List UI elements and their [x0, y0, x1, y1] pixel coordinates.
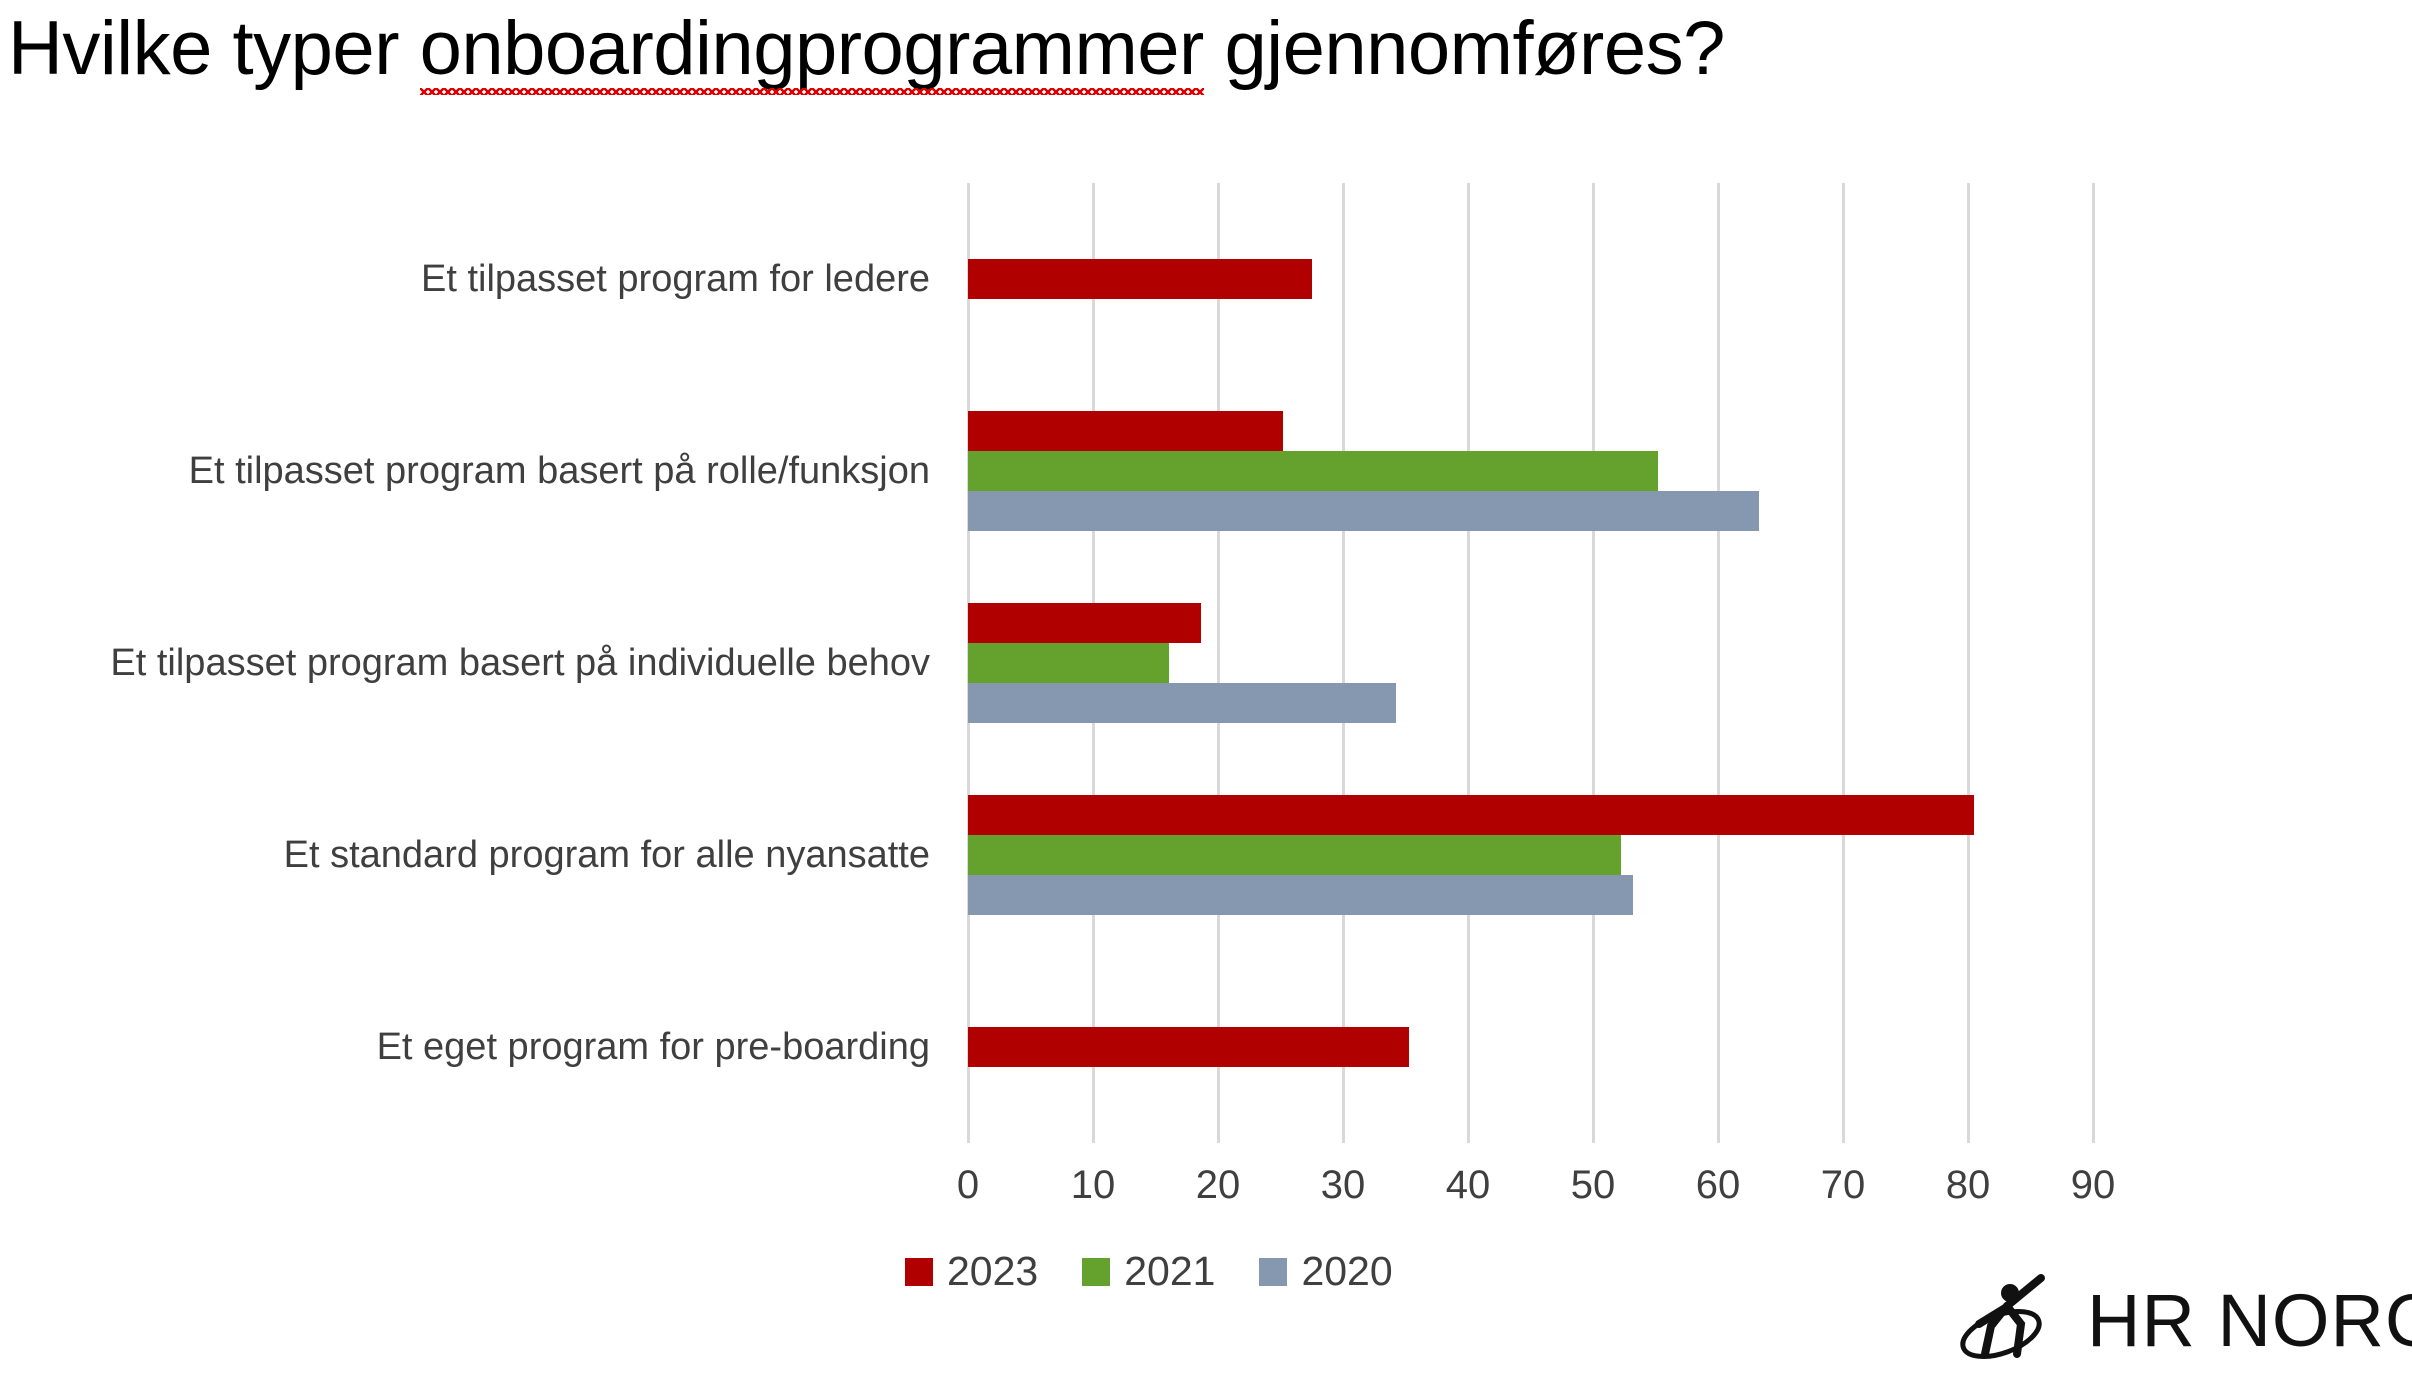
- legend-item-2021[interactable]: 2021: [1082, 1248, 1215, 1295]
- legend-item-2023[interactable]: 2023: [905, 1248, 1038, 1295]
- bar-group: [968, 759, 2093, 951]
- x-tick-label: 80: [1946, 1163, 1991, 1208]
- chart-legend: 202320212020: [905, 1248, 1393, 1295]
- bar-group: [968, 375, 2093, 567]
- category-label-row: Et eget program for pre-boarding: [0, 951, 948, 1143]
- plot-area: [968, 183, 2093, 1143]
- category-axis-labels: Et tilpasset program for ledereEt tilpas…: [0, 183, 948, 1143]
- category-label-row: Et tilpasset program for ledere: [0, 183, 948, 375]
- hr-norge-logo: HR NORGE: [1955, 1268, 2412, 1372]
- legend-swatch-2021: [1082, 1258, 1110, 1286]
- bar-2020[interactable]: [968, 875, 1633, 915]
- bar-2020[interactable]: [968, 491, 1759, 531]
- x-tick-label: 90: [2071, 1163, 2116, 1208]
- x-tick-label: 50: [1571, 1163, 1616, 1208]
- logo-wordmark: HR NORGE: [2087, 1278, 2412, 1363]
- bar-2023[interactable]: [968, 603, 1201, 643]
- bar-2021[interactable]: [968, 643, 1169, 683]
- x-tick-label: 70: [1821, 1163, 1866, 1208]
- x-tick-label: 40: [1446, 1163, 1491, 1208]
- bar-group: [968, 567, 2093, 759]
- logo-head: [2001, 1284, 2019, 1302]
- x-tick-label: 0: [957, 1163, 979, 1208]
- category-label-row: Et tilpasset program basert på rolle/fun…: [0, 375, 948, 567]
- legend-swatch-2023: [905, 1258, 933, 1286]
- value-axis-tick-labels: 0102030405060708090: [968, 1163, 2093, 1223]
- category-label: Et tilpasset program basert på individue…: [110, 642, 930, 685]
- x-tick-label: 60: [1696, 1163, 1741, 1208]
- bar-2023[interactable]: [968, 259, 1312, 299]
- bar-chart: Et tilpasset program for ledereEt tilpas…: [0, 0, 2412, 1380]
- category-label: Et tilpasset program for ledere: [421, 258, 930, 301]
- bar-2023[interactable]: [968, 1027, 1409, 1067]
- x-tick-label: 10: [1071, 1163, 1116, 1208]
- bar-2020[interactable]: [968, 683, 1396, 723]
- category-label: Et tilpasset program basert på rolle/fun…: [189, 450, 930, 493]
- bar-2021[interactable]: [968, 451, 1658, 491]
- x-tick-label: 20: [1196, 1163, 1241, 1208]
- bar-2021[interactable]: [968, 835, 1621, 875]
- bar-2023[interactable]: [968, 795, 1974, 835]
- category-label-row: Et tilpasset program basert på individue…: [0, 567, 948, 759]
- x-tick-label: 30: [1321, 1163, 1366, 1208]
- legend-label-2020: 2020: [1301, 1248, 1392, 1295]
- bar-2023[interactable]: [968, 411, 1283, 451]
- legend-label-2021: 2021: [1124, 1248, 1215, 1295]
- category-label: Et standard program for alle nyansatte: [284, 834, 930, 877]
- person-orbit-icon: [1955, 1268, 2065, 1372]
- category-label: Et eget program for pre-boarding: [377, 1026, 930, 1069]
- legend-label-2023: 2023: [947, 1248, 1038, 1295]
- legend-swatch-2020: [1259, 1258, 1287, 1286]
- bar-group: [968, 183, 2093, 375]
- bar-group: [968, 951, 2093, 1143]
- legend-item-2020[interactable]: 2020: [1259, 1248, 1392, 1295]
- category-label-row: Et standard program for alle nyansatte: [0, 759, 948, 951]
